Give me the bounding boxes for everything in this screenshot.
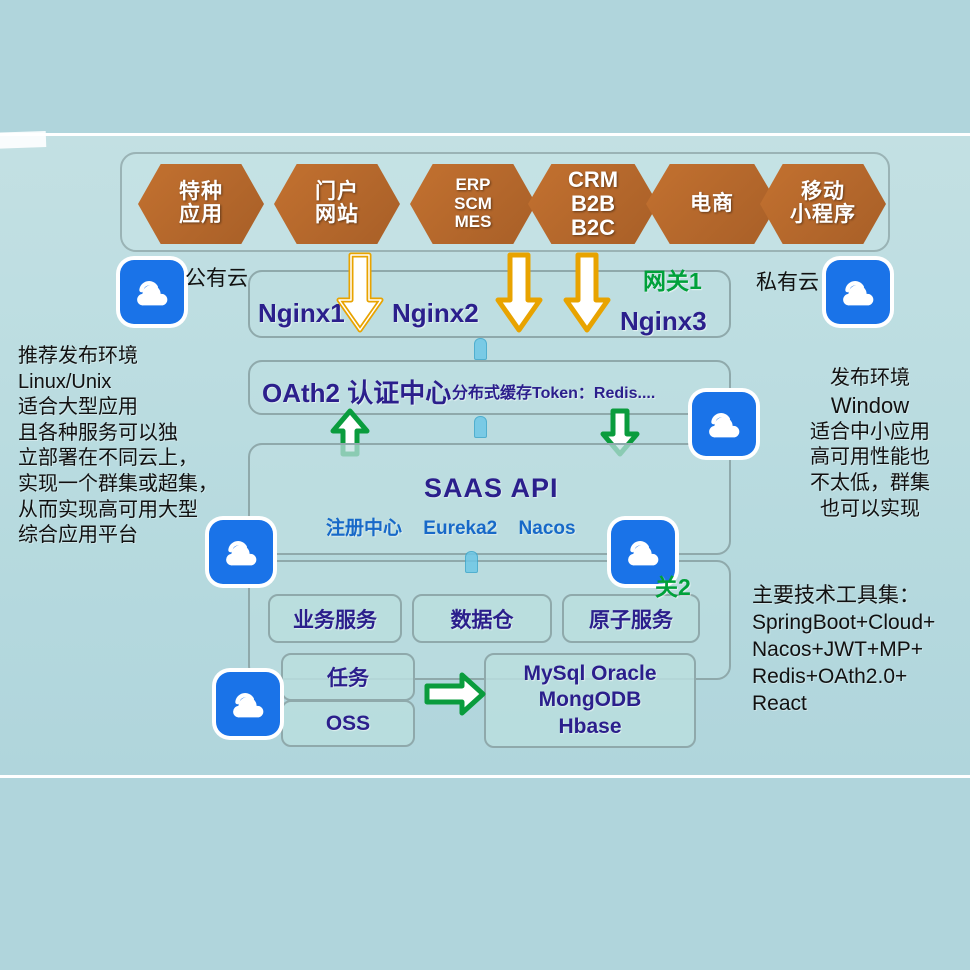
gateway1-label: 网关1 [643,262,702,296]
service-box-oss[interactable]: OSS [281,700,415,747]
db-line-1: MySql Oracle [523,661,656,687]
app-hex-portal-website[interactable]: 门户 网站 [274,164,400,244]
application-layer-container: 特种 应用 门户 网站 ERP SCM MES CRM B2B B2C 电商 移… [120,152,890,252]
cloud-icon-auth[interactable] [692,392,756,456]
left-note-line: 从而实现高可用大型 [18,498,228,524]
tools-note-line: React [752,691,967,718]
public-cloud-label: 公有云 [185,262,248,292]
database-box[interactable]: MySql Oracle MongODB Hbase [484,653,696,748]
connector-gateway-auth [474,338,487,360]
db-line-2: MongODB [539,687,642,713]
gold-down-arrow-2 [495,252,543,334]
tools-note-line: 主要技术工具集： [752,583,967,610]
registry-nacos: Nacos [519,518,576,539]
distributed-token-cache-label: 分布式缓存Token：Redis.... [452,379,655,403]
app-hex-erp-scm-mes[interactable]: ERP SCM MES [410,164,536,244]
gateway2-label: 关2 [655,568,691,602]
service-box-business[interactable]: 业务服务 [268,594,402,643]
registry-row: 注册中心 Eureka2 Nacos [326,513,592,540]
app-hex-mobile-miniprogram[interactable]: 移动 小程序 [760,164,886,244]
nginx3-label[interactable]: Nginx3 [620,306,707,337]
hex-line: B2B [571,192,615,216]
hex-line: 电商 [690,193,734,216]
service-box-task[interactable]: 任务 [281,653,415,701]
registry-eureka2: Eureka2 [423,518,497,539]
nginx1-label[interactable]: Nginx1 [258,298,345,329]
cloud-icon-storage[interactable] [216,672,280,736]
hex-line: MES [455,213,492,232]
cloud-icon-public[interactable] [120,260,184,324]
cloud-glyph [835,269,881,315]
registry-label: 注册中心 [326,518,402,539]
nginx2-label[interactable]: Nginx2 [392,298,479,329]
hex-line: B2C [571,216,615,240]
cloud-glyph [129,269,175,315]
gold-down-arrow-1 [336,252,384,334]
tools-note: 主要技术工具集： SpringBoot+Cloud+ Nacos+JWT+MP+… [752,583,967,717]
app-hex-crm-b2b-b2c[interactable]: CRM B2B B2C [528,164,658,244]
tools-note-line: Redis+OAth2.0+ [752,664,967,691]
left-note-line: 且各种服务可以独 [18,421,228,447]
hex-line: 特种 [179,181,223,204]
hex-line: 移动 [801,181,845,204]
app-hex-special-application[interactable]: 特种 应用 [138,164,264,244]
left-note: 推荐发布环境 Linux/Unix 适合大型应用 且各种服务可以独 立部署在不同… [18,344,228,549]
cloud-glyph [225,681,271,727]
cloud-icon-private[interactable] [826,260,890,324]
hex-line: SCM [454,195,492,214]
tools-note-line: Nacos+JWT+MP+ [752,637,967,664]
hex-line: 门户 [315,181,359,204]
right-note-line: 也可以实现 [770,497,970,523]
left-note-line: 适合大型应用 [18,395,228,421]
hex-line: 网站 [315,204,359,227]
right-note-line: 适合中小应用 [770,420,970,446]
left-note-line: 立部署在不同云上， [18,446,228,472]
gold-down-arrow-3 [563,252,611,334]
right-note-line: 高可用性能也 [770,445,970,471]
service-box-datawarehouse[interactable]: 数据仓 [412,594,552,643]
tools-note-line: SpringBoot+Cloud+ [752,610,967,637]
right-note-line: 发布环境 [770,366,970,392]
left-note-line: 综合应用平台 [18,523,228,549]
private-cloud-label: 私有云 [756,266,819,296]
left-note-line: 实现一个群集或超集， [18,472,228,498]
hex-line: ERP [456,176,491,195]
hex-line: 小程序 [790,204,856,227]
hex-line: CRM [568,168,618,192]
left-note-line: 推荐发布环境 [18,344,228,370]
connector-saas-services [465,551,478,573]
db-line-3: Hbase [558,714,621,740]
left-note-line: Linux/Unix [18,370,228,396]
hex-line: 应用 [179,204,223,227]
connector-auth-saas [474,416,487,438]
green-right-arrow [424,671,486,717]
cloud-glyph [701,401,747,447]
right-note-line: 不太低，群集 [770,471,970,497]
saas-api-title: SAAS API [424,473,559,504]
right-note-line: Window [770,392,970,420]
oauth2-title: OAth2 认证中心 [262,373,451,410]
app-hex-ecommerce[interactable]: 电商 [646,164,778,244]
right-note: 发布环境 Window 适合中小应用 高可用性能也 不太低，群集 也可以实现 [770,366,970,522]
